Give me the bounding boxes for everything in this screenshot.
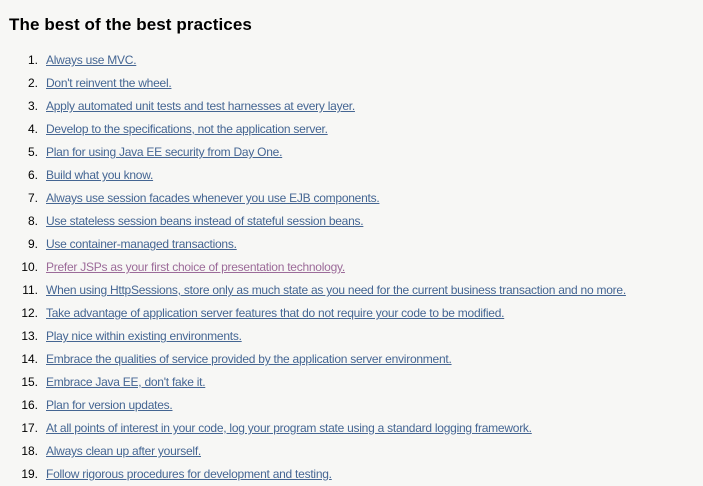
list-item: 15.Embrace Java EE, don't fake it. <box>0 371 703 394</box>
list-item-link[interactable]: Play nice within existing environments. <box>46 325 242 348</box>
list-item-number: 7. <box>0 187 38 210</box>
list-item-number: 6. <box>0 164 38 187</box>
list-item: 6.Build what you know. <box>0 164 703 187</box>
list-item: 19.Follow rigorous procedures for develo… <box>0 463 703 486</box>
list-item-link[interactable]: When using HttpSessions, store only as m… <box>46 279 626 302</box>
list-item-number: 15. <box>0 371 38 394</box>
list-item-link[interactable]: Plan for version updates. <box>46 394 173 417</box>
list-item: 4.Develop to the specifications, not the… <box>0 118 703 141</box>
list-item: 10.Prefer JSPs as your first choice of p… <box>0 256 703 279</box>
best-practices-list: 1.Always use MVC.2.Don't reinvent the wh… <box>0 49 703 486</box>
list-item-number: 13. <box>0 325 38 348</box>
list-item-link[interactable]: Always use MVC. <box>46 49 136 72</box>
list-item: 3.Apply automated unit tests and test ha… <box>0 95 703 118</box>
list-item-link[interactable]: Follow rigorous procedures for developme… <box>46 463 332 486</box>
list-item-link[interactable]: Use stateless session beans instead of s… <box>46 210 363 233</box>
list-item: 11.When using HttpSessions, store only a… <box>0 279 703 302</box>
list-item-number: 16. <box>0 394 38 417</box>
list-item-number: 8. <box>0 210 38 233</box>
list-item-link[interactable]: Develop to the specifications, not the a… <box>46 118 328 141</box>
list-item-number: 3. <box>0 95 38 118</box>
list-item-link[interactable]: Don't reinvent the wheel. <box>46 72 171 95</box>
list-item-link[interactable]: Prefer JSPs as your first choice of pres… <box>46 256 345 279</box>
list-item-link[interactable]: Use container-managed transactions. <box>46 233 237 256</box>
list-item-number: 4. <box>0 118 38 141</box>
list-item-number: 9. <box>0 233 38 256</box>
list-item: 18.Always clean up after yourself. <box>0 440 703 463</box>
list-item-link[interactable]: Take advantage of application server fea… <box>46 302 504 325</box>
list-item-link[interactable]: At all points of interest in your code, … <box>46 417 532 440</box>
list-item-number: 10. <box>0 256 38 279</box>
list-item: 13.Play nice within existing environment… <box>0 325 703 348</box>
list-item: 7.Always use session facades whenever yo… <box>0 187 703 210</box>
slide-page: The best of the best practices 1.Always … <box>0 0 703 485</box>
page-title: The best of the best practices <box>9 14 252 36</box>
list-item-link[interactable]: Embrace Java EE, don't fake it. <box>46 371 205 394</box>
list-item-number: 11. <box>0 279 38 302</box>
list-item: 9.Use container-managed transactions. <box>0 233 703 256</box>
list-item-number: 17. <box>0 417 38 440</box>
list-item: 8.Use stateless session beans instead of… <box>0 210 703 233</box>
list-item-number: 12. <box>0 302 38 325</box>
list-item-link[interactable]: Always use session facades whenever you … <box>46 187 379 210</box>
list-item: 14.Embrace the qualities of service prov… <box>0 348 703 371</box>
list-item-number: 5. <box>0 141 38 164</box>
list-item-link[interactable]: Apply automated unit tests and test harn… <box>46 95 355 118</box>
list-item: 1.Always use MVC. <box>0 49 703 72</box>
list-item: 2.Don't reinvent the wheel. <box>0 72 703 95</box>
list-item: 12.Take advantage of application server … <box>0 302 703 325</box>
list-item: 17.At all points of interest in your cod… <box>0 417 703 440</box>
list-item: 16.Plan for version updates. <box>0 394 703 417</box>
list-item-number: 14. <box>0 348 38 371</box>
list-item: 5.Plan for using Java EE security from D… <box>0 141 703 164</box>
list-item-number: 18. <box>0 440 38 463</box>
list-item-link[interactable]: Embrace the qualities of service provide… <box>46 348 452 371</box>
list-item-number: 19. <box>0 463 38 486</box>
list-item-number: 1. <box>0 49 38 72</box>
list-item-link[interactable]: Build what you know. <box>46 164 153 187</box>
list-item-number: 2. <box>0 72 38 95</box>
list-item-link[interactable]: Plan for using Java EE security from Day… <box>46 141 282 164</box>
list-item-link[interactable]: Always clean up after yourself. <box>46 440 201 463</box>
